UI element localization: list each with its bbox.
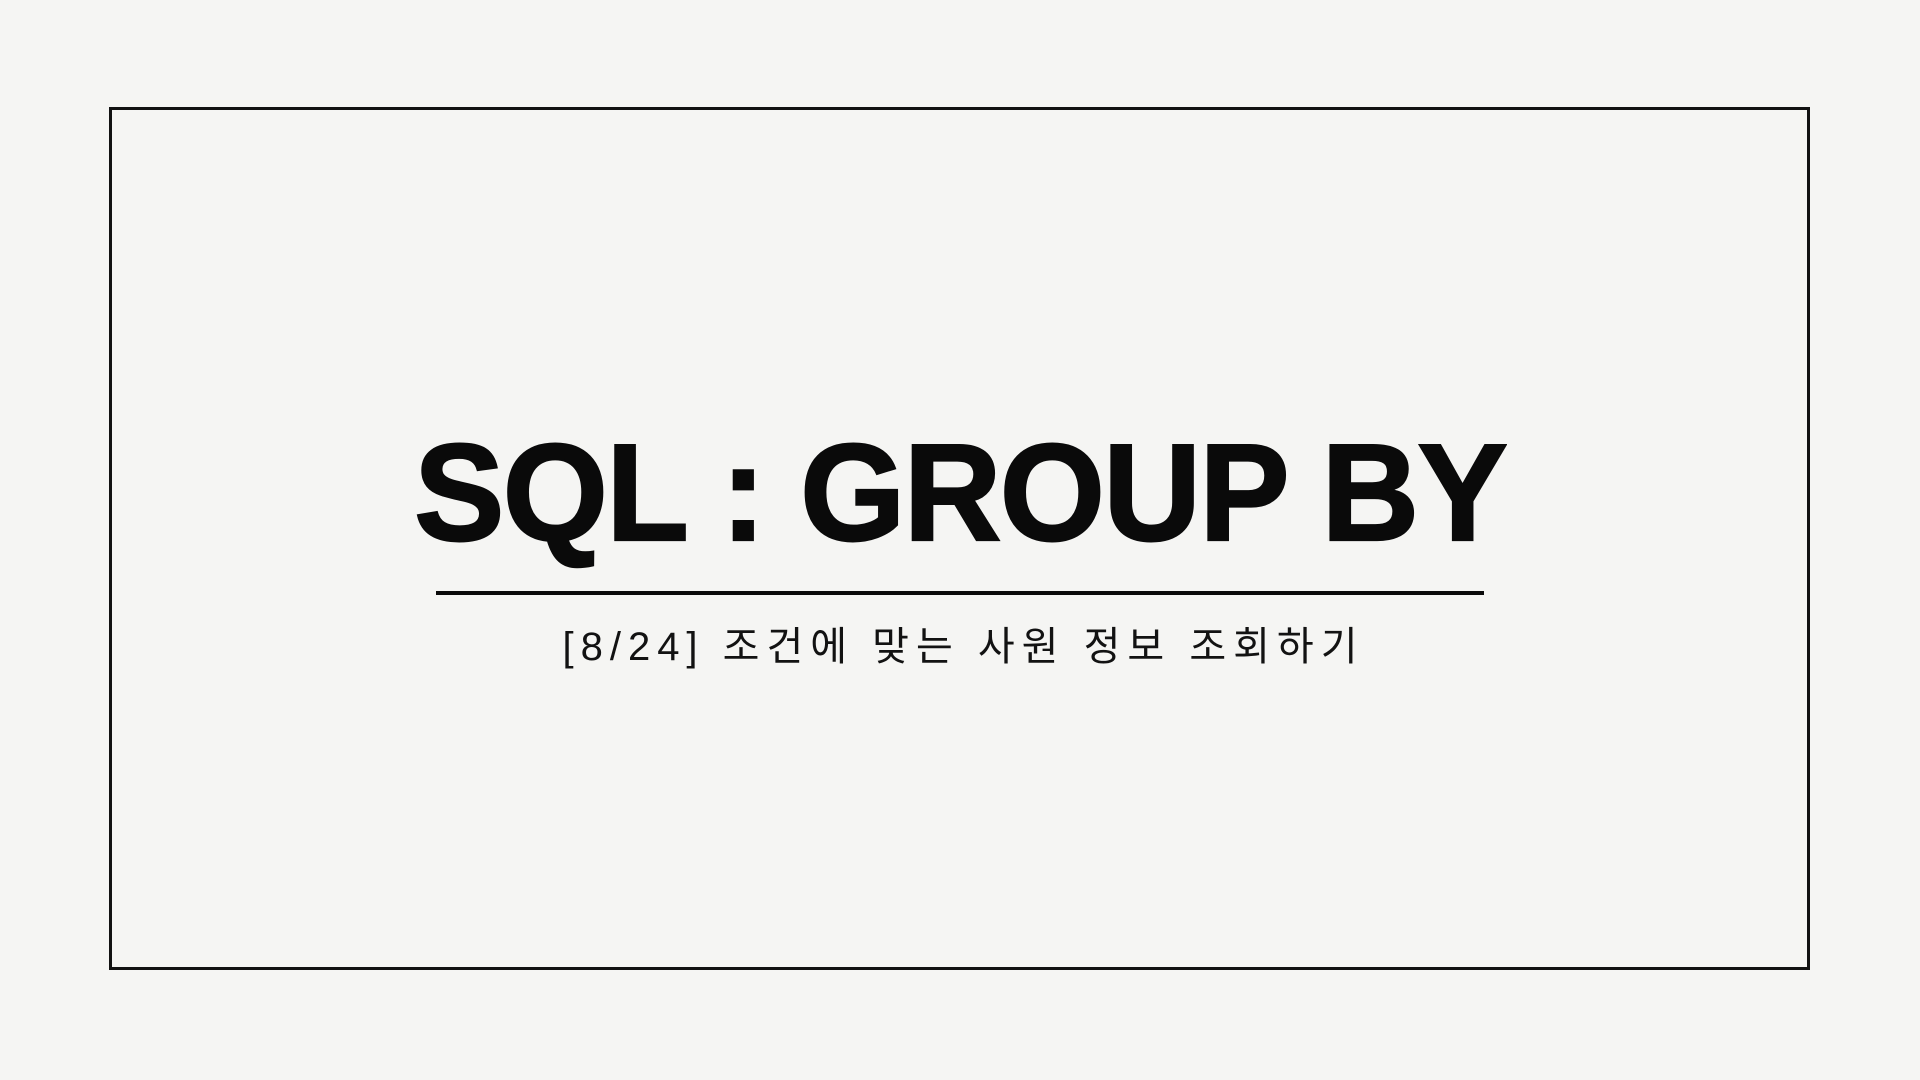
presentation-slide: SQL : GROUP BY [8/24] 조건에 맞는 사원 정보 조회하기	[0, 0, 1920, 1080]
slide-border-frame	[109, 107, 1810, 970]
